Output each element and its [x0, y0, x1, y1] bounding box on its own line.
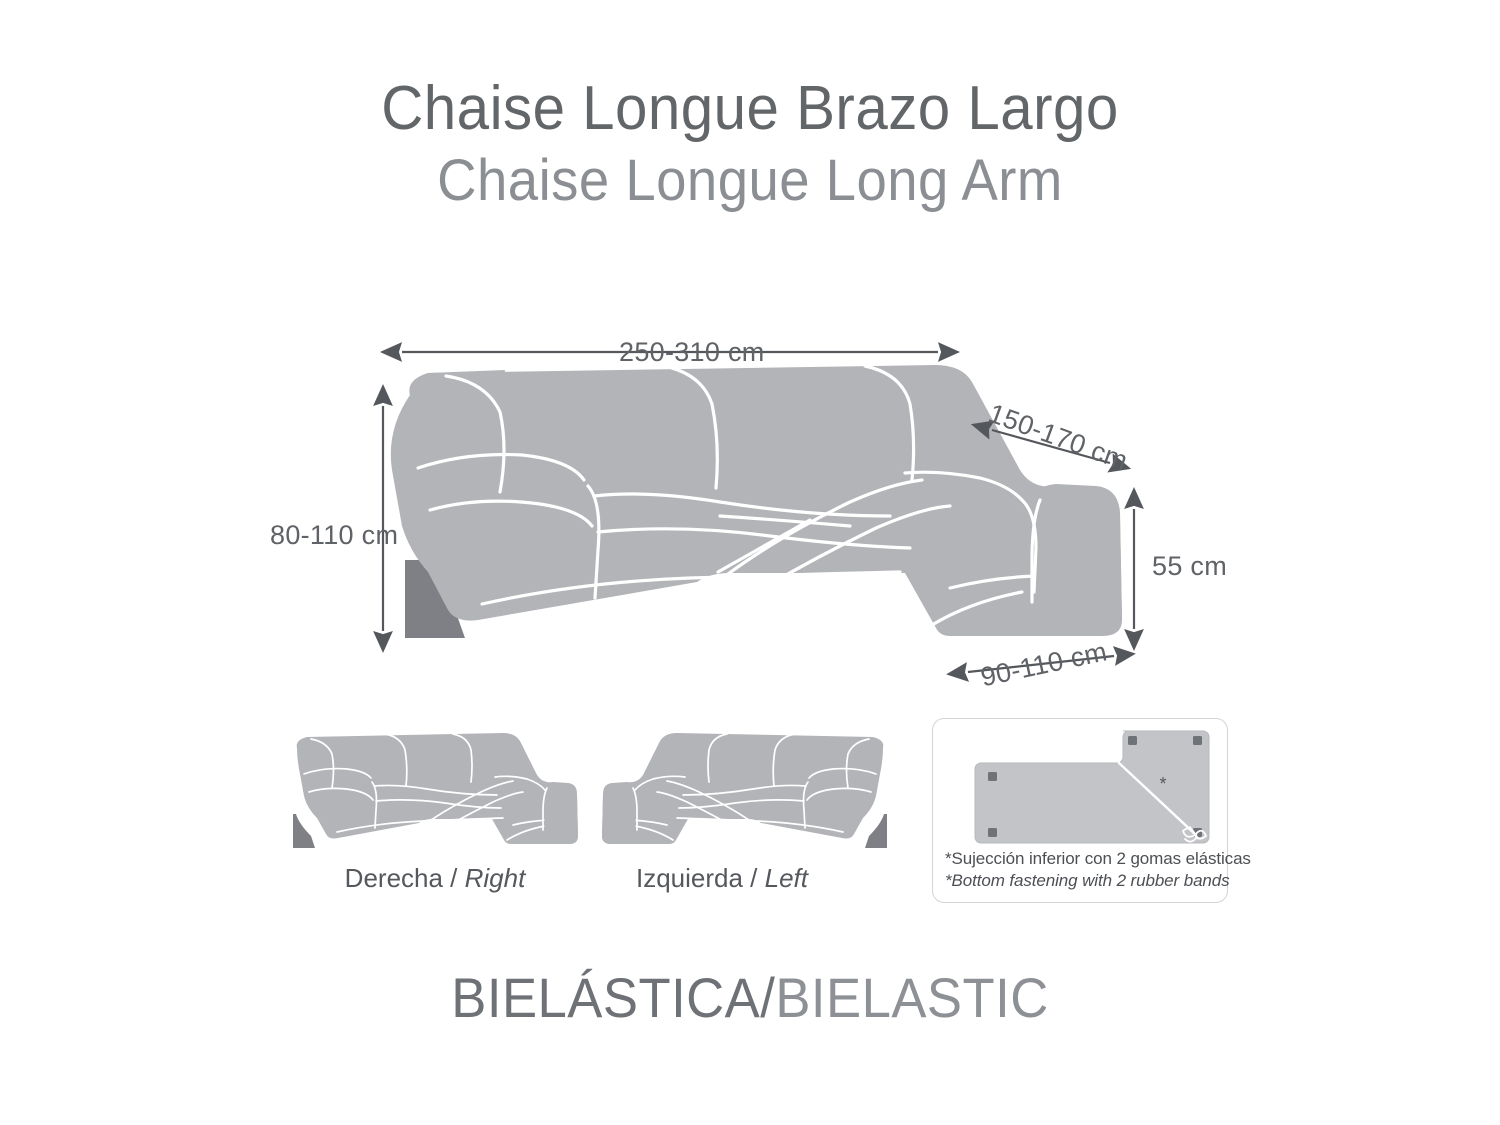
- plan-shape: [975, 731, 1209, 843]
- info-note-spanish: *Sujección inferior con 2 gomas elástica…: [945, 848, 1221, 870]
- variant-right-arm: [544, 782, 578, 844]
- variant-right-label-en: Right: [465, 863, 526, 893]
- variant-left-shadow: [865, 814, 887, 848]
- variant-left-label-es: Izquierda /: [636, 863, 765, 893]
- dimension-width-label: 250-310 cm: [619, 337, 765, 368]
- fabric-type-separator: /: [760, 966, 775, 1029]
- dimension-chaise-height-label: 55 cm: [1152, 551, 1227, 582]
- dimension-height-label: 80-110 cm: [270, 520, 398, 551]
- fabric-type-label: BIELÁSTICA/BIELASTIC: [45, 965, 1455, 1031]
- variant-left-arm: [602, 782, 636, 844]
- page-title: Chaise Longue Brazo Largo Chaise Longue …: [0, 72, 1500, 216]
- plan-asterisk: *: [1159, 774, 1166, 794]
- variant-left-label-en: Left: [765, 863, 808, 893]
- footer: BIELÁSTICA/BIELASTIC: [0, 965, 1500, 1031]
- fabric-type-spanish: BIELÁSTICA: [451, 966, 760, 1029]
- variant-right-label-es: Derecha /: [345, 863, 465, 893]
- variant-left-label: Izquierda / Left: [562, 863, 882, 894]
- title-spanish: Chaise Longue Brazo Largo: [45, 72, 1455, 146]
- variant-right-shadow: [293, 814, 315, 848]
- info-note-english: *Bottom fastening with 2 rubber bands: [945, 870, 1221, 892]
- fastening-plan-diagram: *: [947, 727, 1215, 845]
- product-diagram-page: Chaise Longue Brazo Largo Chaise Longue …: [0, 0, 1500, 1125]
- variant-right-label: Derecha / Right: [275, 863, 595, 894]
- info-card: * *Sujección inferior con 2 gomas elásti…: [932, 718, 1228, 903]
- info-card-text: *Sujección inferior con 2 gomas elástica…: [945, 848, 1221, 892]
- title-english: Chaise Longue Long Arm: [45, 146, 1455, 216]
- chaise-right-arm: [1036, 484, 1122, 634]
- fabric-type-english: BIELASTIC: [775, 966, 1048, 1029]
